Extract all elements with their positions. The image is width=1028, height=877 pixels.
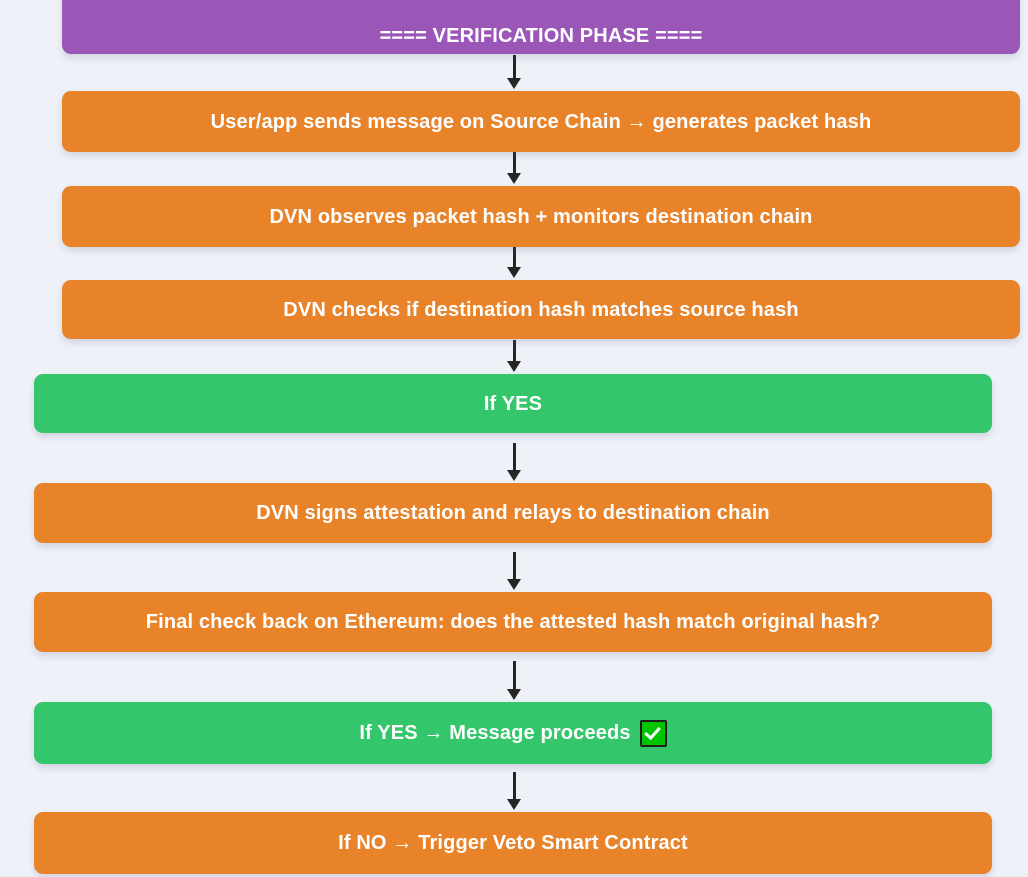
connector-arrow-6 xyxy=(506,552,522,590)
connector-arrow-2 xyxy=(506,152,522,184)
connector-arrow-5 xyxy=(506,443,522,481)
process-node-if-no-veto-contract[interactable]: If NO → Trigger Veto Smart Contract xyxy=(34,812,992,874)
process-node-label: Final check back on Ethereum: does the a… xyxy=(146,611,880,633)
connector-arrow-3 xyxy=(506,247,522,278)
process-node-label: DVN signs attestation and relays to dest… xyxy=(256,502,770,524)
decision-node-label-wrap: If YES → Message proceeds xyxy=(359,720,666,747)
process-node-label: If NO → Trigger Veto Smart Contract xyxy=(338,832,688,854)
process-node-dvn-observes[interactable]: DVN observes packet hash + monitors dest… xyxy=(62,186,1020,247)
decision-node-label: If YES xyxy=(484,393,542,415)
process-node-label: DVN observes packet hash + monitors dest… xyxy=(269,206,812,228)
process-node-source-chain-message[interactable]: User/app sends message on Source Chain →… xyxy=(62,91,1020,152)
decision-node-if-yes[interactable]: If YES xyxy=(34,374,992,433)
process-node-label: User/app sends message on Source Chain →… xyxy=(211,111,872,133)
connector-arrow-1 xyxy=(506,55,522,89)
decision-node-label: If YES → Message proceeds xyxy=(359,722,630,744)
process-node-dvn-checks-hash[interactable]: DVN checks if destination hash matches s… xyxy=(62,280,1020,339)
process-node-final-check-ethereum[interactable]: Final check back on Ethereum: does the a… xyxy=(34,592,992,652)
check-mark-icon xyxy=(640,720,667,747)
flowchart-canvas: ==== VERIFICATION PHASE ==== User/app se… xyxy=(0,0,1028,877)
process-node-label: DVN checks if destination hash matches s… xyxy=(283,299,798,321)
phase-header-label: ==== VERIFICATION PHASE ==== xyxy=(380,25,703,47)
connector-arrow-7 xyxy=(506,661,522,700)
connector-arrow-8 xyxy=(506,772,522,810)
phase-header-node[interactable]: ==== VERIFICATION PHASE ==== xyxy=(62,0,1020,54)
connector-arrow-4 xyxy=(506,340,522,372)
process-node-dvn-signs-attestation[interactable]: DVN signs attestation and relays to dest… xyxy=(34,483,992,543)
decision-node-if-yes-message-proceeds[interactable]: If YES → Message proceeds xyxy=(34,702,992,764)
